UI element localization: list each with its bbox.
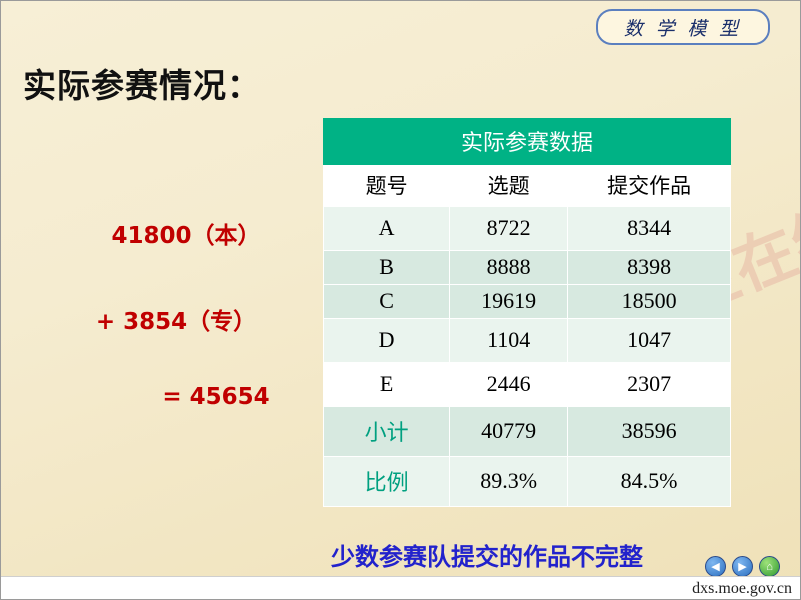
slide-badge: 数 学 模 型 [596,9,770,45]
cell-submit: 8344 [568,207,731,251]
column-header-select: 选题 [450,165,568,207]
prev-slide-icon[interactable]: ◀ [705,556,726,577]
cell-submit: 38596 [568,407,731,457]
home-slide-icon[interactable]: ⌂ [759,556,780,577]
cell-select: 2446 [450,363,568,407]
cell-submit: 2307 [568,363,731,407]
table-row: D 1104 1047 [324,319,731,363]
table-row: B 8888 8398 [324,251,731,285]
cell-select: 8888 [450,251,568,285]
cell-id: 小计 [324,407,450,457]
data-table-wrapper: 实际参赛数据 题号 选题 提交作品 A 8722 8344 B 8888 839… [323,118,731,507]
footnote: 少数参赛队提交的作品不完整 [331,537,643,572]
cell-submit: 18500 [568,285,731,319]
table-row-subtotal: 小计 40779 38596 [324,407,731,457]
cell-submit: 1047 [568,319,731,363]
footer-url: dxs.moe.gov.cn [692,580,792,598]
slide-navigation[interactable]: ◀ ▶ ⌂ [705,556,780,577]
table-header-row: 题号 选题 提交作品 [324,165,731,207]
cell-id: E [324,363,450,407]
calc-line-1: 41800（本） [61,216,311,250]
cell-id: A [324,207,450,251]
cell-select: 8722 [450,207,568,251]
cell-submit: 84.5% [568,457,731,507]
table-row: E 2446 2307 [324,363,731,407]
next-slide-icon[interactable]: ▶ [732,556,753,577]
cell-select: 19619 [450,285,568,319]
cell-id: B [324,251,450,285]
table-caption: 实际参赛数据 [324,119,731,165]
page-title: 实际参赛情况： [23,59,261,107]
cell-id: 比例 [324,457,450,507]
footer-bar [1,576,800,599]
cell-select: 1104 [450,319,568,363]
slide: 数 学 模 型 实际参赛情况： 中国大学生在线 dxs.moe.gov.cn 4… [0,0,801,600]
calc-line-2: + 3854（专） [61,302,311,336]
table-row: A 8722 8344 [324,207,731,251]
participation-table: 实际参赛数据 题号 选题 提交作品 A 8722 8344 B 8888 839… [323,118,731,507]
column-header-id: 题号 [324,165,450,207]
table-row: C 19619 18500 [324,285,731,319]
table-caption-row: 实际参赛数据 [324,119,731,165]
cell-id: C [324,285,450,319]
cell-select: 40779 [450,407,568,457]
column-header-submit: 提交作品 [568,165,731,207]
cell-select: 89.3% [450,457,568,507]
calc-line-3: = 45654 [61,384,311,410]
cell-submit: 8398 [568,251,731,285]
table-row-ratio: 比例 89.3% 84.5% [324,457,731,507]
cell-id: D [324,319,450,363]
participation-calculation: 41800（本） + 3854（专） = 45654 [61,216,311,410]
